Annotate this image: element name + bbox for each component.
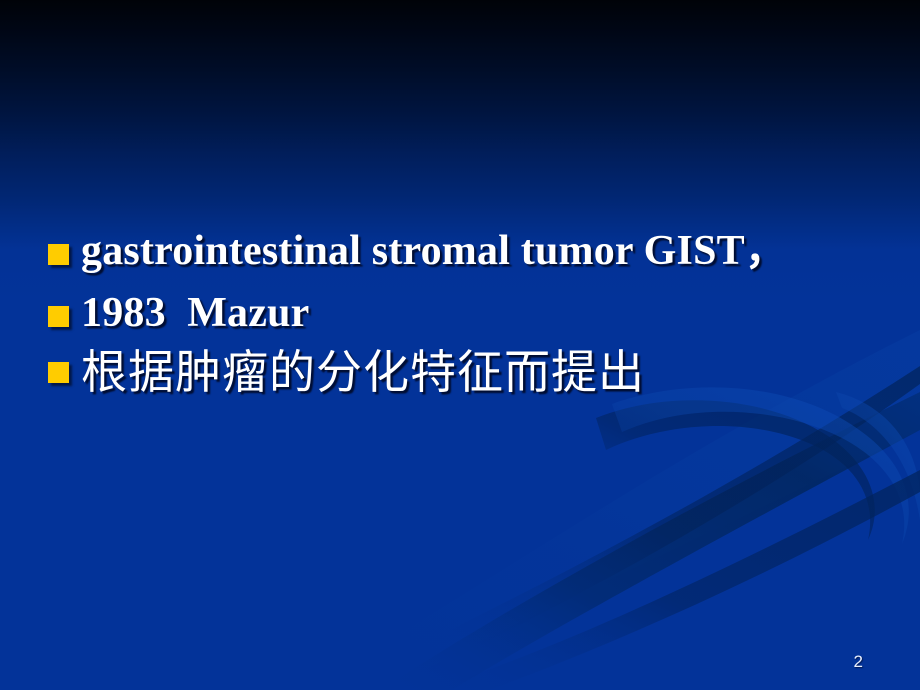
- list-item[interactable]: 1983 Mazur: [48, 290, 858, 338]
- list-item[interactable]: gastrointestinal stromal tumor GIST，: [48, 228, 858, 276]
- bullet-text-gist-definition: gastrointestinal stromal tumor GIST，: [81, 228, 858, 276]
- presentation-slide: gastrointestinal stromal tumor GIST， 198…: [0, 0, 920, 690]
- gold-square-bullet-icon: [48, 244, 69, 265]
- page-number: 2: [854, 653, 863, 670]
- list-item[interactable]: 根据肿瘤的分化特征而提出: [48, 346, 858, 398]
- bullet-text-chinese-description: 根据肿瘤的分化特征而提出: [81, 346, 858, 398]
- gold-square-bullet-icon: [48, 362, 69, 383]
- slide-body-content: gastrointestinal stromal tumor GIST， 198…: [48, 228, 858, 404]
- bullet-text-year-author: 1983 Mazur: [81, 290, 858, 338]
- gold-square-bullet-icon: [48, 306, 69, 327]
